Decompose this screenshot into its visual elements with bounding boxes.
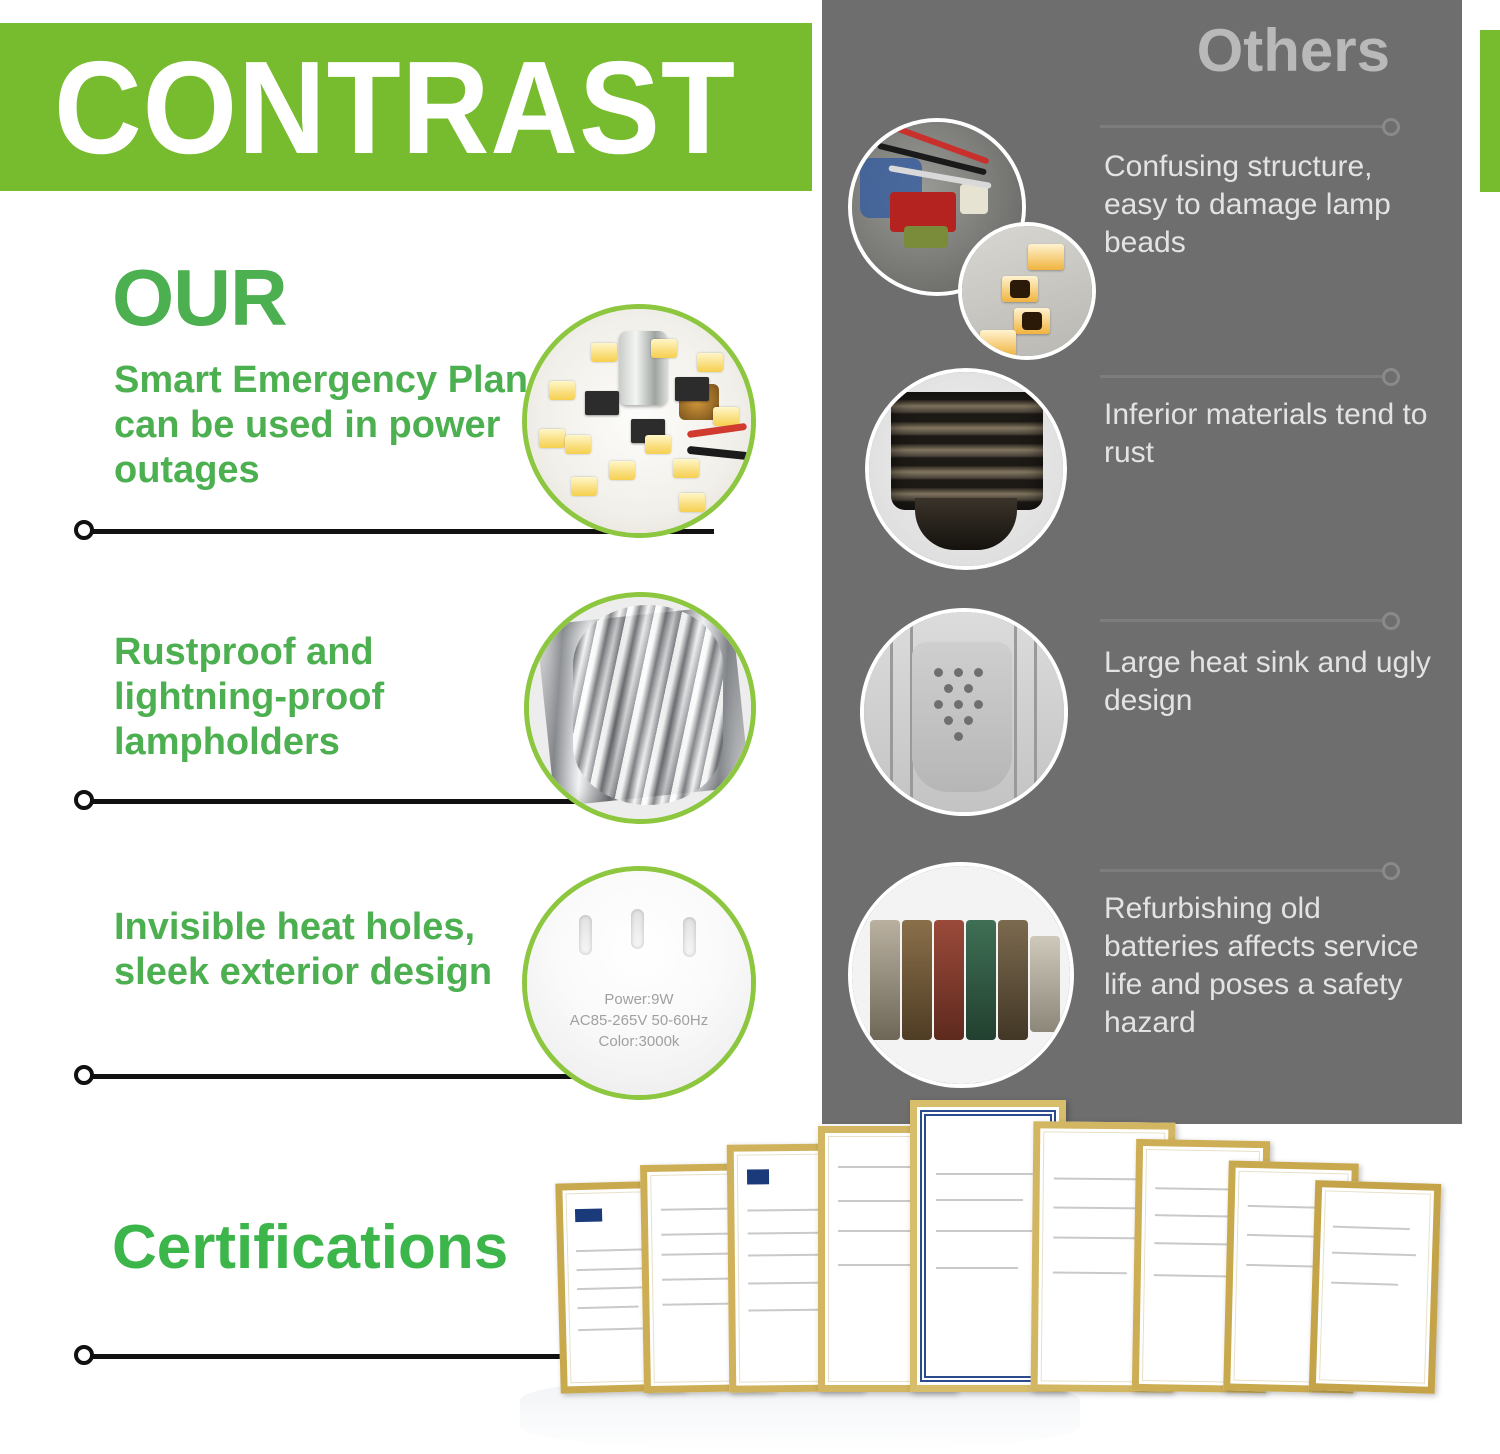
vent-hole [934,668,943,677]
others-connector-4 [1100,862,1400,880]
bulb-housing-image: Power:9W AC85-265V 50-60Hz Color:3000k [522,866,756,1100]
chip-icon [675,377,709,401]
vent-hole [974,668,983,677]
battery-cell [1030,936,1060,1032]
spec-voltage: AC85-265V 50-60Hz [527,1010,751,1031]
led-chip [651,339,677,358]
our-label: OUR [112,258,287,338]
connector-dot-icon [74,520,94,540]
vent-hole [934,700,943,709]
product-spec-block: Power:9W AC85-265V 50-60Hz Color:3000k [527,989,751,1052]
vent-hole [944,684,953,693]
green-edge-accent [1480,30,1500,192]
led-chip [539,429,565,448]
others-connector-2 [1100,368,1400,386]
heat-vent-icon [631,909,644,949]
our-feature-2: Rustproof and lightning-proof lampholder… [114,630,544,765]
led-chip [713,407,739,426]
text-line [1331,1282,1398,1286]
connector-bar [1100,619,1386,622]
issuer-logo [575,1208,602,1222]
our-feature-2-text: Rustproof and lightning-proof lampholder… [114,630,544,765]
issuer-logo [747,1169,770,1185]
vent-hole [954,732,963,741]
led-chip [549,381,575,400]
battery-cell [966,920,996,1040]
others-connector-1 [1100,118,1400,136]
text-line [936,1230,1035,1232]
heat-vent-icon [683,917,696,957]
vent-hole [954,668,963,677]
text-line [1154,1242,1230,1245]
battery-cell [870,920,900,1040]
screw-thread [573,605,723,805]
text-line [936,1173,1033,1175]
connector-dot-icon [74,1345,94,1365]
vent-hole [964,716,973,725]
text-line [661,1253,737,1256]
others-item-3-text: Large heat sink and ugly design [1104,644,1444,720]
base-tip [915,498,1017,550]
contrast-banner: CONTRAST [0,23,812,191]
others-item-1-text: Confusing structure, easy to damage lamp… [1104,148,1444,262]
spec-power: Power:9W [527,989,751,1010]
others-item-4-text: Refurbishing old batteries affects servi… [1104,890,1444,1042]
others-connector-3 [1100,612,1400,630]
vent-hole [974,700,983,709]
fin [890,612,893,812]
certificates-gallery [520,1128,1440,1418]
connector-bar [1100,125,1386,128]
others-title: Others [1197,20,1390,82]
burn-mark [1010,280,1030,298]
others-item-3: Large heat sink and ugly design [1104,644,1444,720]
fin [1014,612,1017,812]
beads-art [962,226,1092,356]
connector-bar [1100,869,1386,872]
led-chip [591,343,617,362]
page-title: CONTRAST [54,43,736,173]
our-feature-1-text: Smart Emergency Plan, can be used in pow… [114,358,544,493]
bulb-art: Power:9W AC85-265V 50-60Hz Color:3000k [527,871,751,1095]
text-line [936,1267,1018,1269]
text-line [936,1199,1023,1201]
text-line [1053,1207,1139,1210]
connector-bar [1100,375,1386,378]
sink-art [864,612,1064,812]
battery-cell [902,920,932,1040]
connector-dot-icon [1382,118,1400,136]
led-chip [673,459,699,478]
our-feature-1: Smart Emergency Plan, can be used in pow… [114,358,544,493]
text-line [838,1166,910,1168]
connector-dot-icon [1382,862,1400,880]
vent-plate [912,642,1012,792]
connector-dot-icon [1382,368,1400,386]
text-line [748,1281,826,1284]
vent-hole [964,684,973,693]
lamp-bead [980,330,1016,356]
connector-dot-icon [74,1065,94,1085]
chrome-screw-base-image [524,592,756,824]
pcb-art [527,309,751,533]
connector-dot-icon [74,790,94,810]
rusty-screw-base-image [865,368,1067,570]
chip-icon [585,391,619,415]
text-line [1247,1234,1323,1238]
text-line [662,1302,731,1305]
certifications-title: Certifications [112,1216,508,1280]
screw-base-art [529,597,751,819]
our-feature-3-text: Invisible heat holes, sleek exterior des… [114,905,544,995]
infographic-canvas: CONTRAST Others OUR Smart Emergency Plan… [0,0,1500,1454]
others-item-4: Refurbishing old batteries affects servi… [1104,890,1444,1042]
others-item-1: Confusing structure, easy to damage lamp… [1104,148,1444,262]
heat-sink-image [860,608,1068,816]
certificate-9 [1309,1180,1442,1394]
battery-art [852,866,1070,1084]
battery-cell [934,920,964,1040]
fin [1034,612,1037,812]
rust-art [869,372,1063,566]
connector-block [960,184,988,214]
vent-hole [944,716,953,725]
led-chip [609,461,635,480]
old-batteries-image [848,862,1074,1088]
burn-mark [1022,312,1042,330]
green-board [904,226,948,248]
text-line [1332,1252,1415,1257]
led-chip [697,353,723,372]
battery-cell [998,920,1028,1040]
text-line [578,1305,639,1309]
led-chip [679,493,705,512]
text-line [1052,1271,1126,1274]
others-item-2-text: Inferior materials tend to rust [1104,396,1444,472]
led-chip [565,435,591,454]
rusted-thread [891,392,1043,510]
our-feature-3: Invisible heat holes, sleek exterior des… [114,905,544,995]
burnt-lamp-beads-image [958,222,1096,360]
led-driver-board-image [522,304,756,538]
connector-dot-icon [1382,612,1400,630]
certificate-page [1319,1190,1431,1383]
text-line [1333,1225,1410,1229]
led-chip [645,435,671,454]
lamp-bead [1028,244,1064,270]
spec-color-temp: Color:3000k [527,1031,751,1052]
vent-hole [954,700,963,709]
heat-vent-icon [579,915,592,955]
led-chip [571,477,597,496]
others-item-2: Inferior materials tend to rust [1104,396,1444,472]
